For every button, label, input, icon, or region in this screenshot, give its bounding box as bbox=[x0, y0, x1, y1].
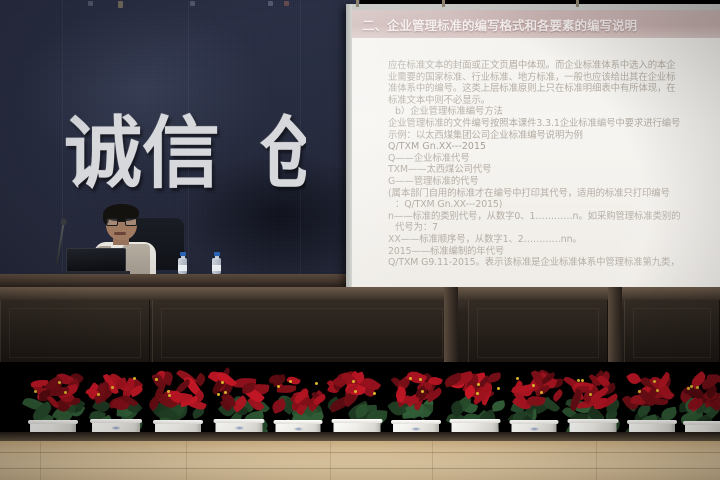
wall-slogan-char-3: 创 bbox=[260, 112, 306, 196]
laptop-screen bbox=[66, 248, 126, 272]
slide-surface: 二、企业管理标准的编写格式和各要素的编写说明 应在标准文本的封面或正文页眉中体现… bbox=[352, 10, 720, 290]
slide-line: b）企业管理标准编号方法 bbox=[388, 106, 714, 118]
slide-line: XX——标准顺序号，从数字1、2…………nn。 bbox=[388, 234, 714, 246]
pot-decoration bbox=[111, 426, 121, 430]
back-wall: 诚 信 创 bbox=[0, 0, 360, 300]
water-bottle[interactable] bbox=[212, 252, 221, 274]
floor bbox=[0, 441, 720, 480]
presenter-mouth bbox=[114, 232, 126, 235]
pot-decoration bbox=[529, 427, 539, 431]
slide-line: n——标准的类别代号，从数字0、1…………n。如采购管理标准类别的 bbox=[388, 211, 714, 223]
slide-line: 示例：以太西煤集团公司企业标准编号说明为例 bbox=[388, 130, 714, 142]
wall-slogan-char-2: 信 bbox=[142, 112, 220, 196]
slide-line: TXM——太西煤公司代号 bbox=[388, 164, 714, 176]
slide-line: 准体系中的编号。这类上层标准原则上只在标准明细表中有所体现，在 bbox=[388, 83, 714, 95]
slide-line: 2015——标准编制的年代号 bbox=[388, 246, 714, 258]
slide-title: 二、企业管理标准的编写格式和各要素的编写说明 bbox=[362, 15, 637, 34]
slide-line: Q/TXM Gn.XX---2015 bbox=[388, 141, 714, 153]
slide-line: 企业管理标准的文件编号按照本课件3.3.1企业标准编号中要求进行编号 bbox=[388, 118, 714, 130]
pot-decoration bbox=[293, 427, 303, 431]
slide-line: (属本部门自用的标准才在编号中打印其代号，适用的标准只打印编号 bbox=[388, 188, 714, 200]
slide-line: 应在标准文本的封面或正文页眉中体现。而企业标准体系中选入的本企 bbox=[388, 60, 714, 72]
pot-decoration bbox=[234, 426, 244, 430]
glasses-icon bbox=[106, 218, 137, 226]
wall-slogan-char-1: 诚 bbox=[64, 112, 142, 196]
podium-desk bbox=[0, 274, 360, 288]
slide-line: 代号为：7 bbox=[388, 222, 714, 234]
water-bottle[interactable] bbox=[178, 252, 187, 274]
screen-hangers bbox=[346, 0, 720, 6]
projection-screen: 二、企业管理标准的编写格式和各要素的编写说明 应在标准文本的封面或正文页眉中体现… bbox=[346, 4, 720, 290]
slide-line: 业需要的国家标准、行业标准、地方标准，一般也应该给出其在企业标 bbox=[388, 72, 714, 84]
wall-top-fixtures bbox=[0, 0, 360, 8]
slide-line: Q/TXM G9.11-2015。表示该标准是企业标准体系中管理标准第九类， bbox=[388, 257, 714, 269]
slide-body: 应在标准文本的封面或正文页眉中体现。而企业标准体系中选入的本企 业需要的国家标准… bbox=[352, 38, 720, 273]
slide-header: 二、企业管理标准的编写格式和各要素的编写说明 bbox=[352, 10, 720, 38]
slide-line: G——管理标准的代号 bbox=[388, 176, 714, 188]
slide-line: Q——企业标准代号 bbox=[388, 153, 714, 165]
pot-decoration bbox=[411, 427, 421, 431]
wall-slogan: 诚 信 创 bbox=[64, 112, 306, 196]
slide-line: ：Q/TXM Gn.XX---2015) bbox=[388, 199, 714, 211]
scene-root: 诚 信 创 bbox=[0, 0, 720, 480]
slide-line: 标准文本中则不必显示。 bbox=[388, 95, 714, 107]
